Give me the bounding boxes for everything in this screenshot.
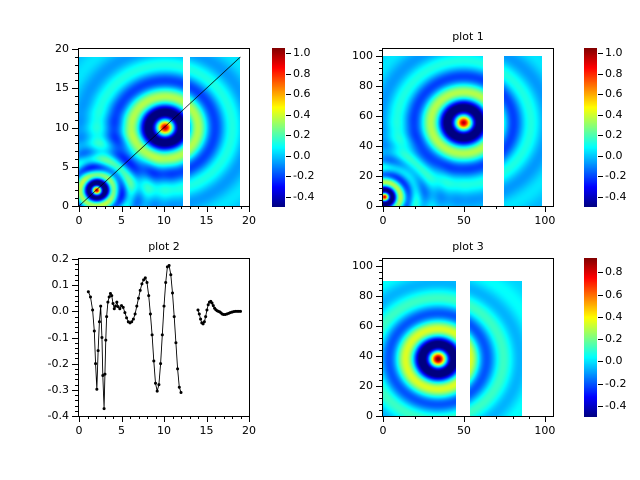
panel-bottom-right-ytick-minor — [379, 302, 382, 303]
panel-bottom-right-ytick-major — [376, 416, 382, 417]
panel-bottom-right-patch-right — [470, 281, 522, 416]
panel-bottom-right-ytick-minor — [379, 290, 382, 291]
panel-bottom-right-ytick-minor — [379, 344, 382, 345]
panel-bottom-right-colorbar-tick — [598, 339, 603, 340]
panel-bottom-right-ytick-minor — [379, 374, 382, 375]
panel-bottom-right-yticklabel: 80 — [323, 289, 373, 302]
panel-bottom-right-colorbar-tick — [598, 384, 603, 385]
panel-bottom-right-colorbar-ticklabel: 0.8 — [605, 265, 623, 278]
panel-bottom-right-xtick-minor — [432, 416, 433, 419]
panel-bottom-right-xticklabel: 50 — [439, 424, 489, 437]
panel-bottom-right-colorbar-ticklabel: -0.4 — [605, 399, 626, 412]
panel-bottom-right-ytick-major — [376, 386, 382, 387]
panel-bottom-right-xticklabel: 100 — [520, 424, 570, 437]
panel-bottom-right-xtick-major — [545, 416, 546, 422]
panel-bottom-right-yticklabel: 60 — [323, 319, 373, 332]
panel-bottom-right-colorbar-ticklabel: -0.2 — [605, 377, 626, 390]
panel-bottom-right-yticklabel: 0 — [323, 409, 373, 422]
panel-bottom-right-colorbar-tick — [598, 361, 603, 362]
panel-bottom-right-patch-right-image — [470, 281, 522, 416]
panel-bottom-right-colorbar-ticklabel: 0.4 — [605, 310, 623, 323]
panel-bottom-right-ytick-minor — [379, 314, 382, 315]
panel-bottom-right-xtick-major — [383, 416, 384, 422]
panel-bottom-right-ytick-minor — [379, 404, 382, 405]
panel-bottom-right-colorbar-ticklabel: 0.6 — [605, 288, 623, 301]
figure-canvas: 05101520051015201.00.80.60.40.20.0-0.2-0… — [0, 0, 640, 480]
panel-bottom-right-ytick-minor — [379, 398, 382, 399]
panel-bottom-right-axes — [382, 258, 554, 417]
panel-bottom-right-ytick-minor — [379, 284, 382, 285]
panel-bottom-right-title: plot 3 — [362, 240, 574, 253]
panel-bottom-right-xtick-major — [464, 416, 465, 422]
panel-bottom-right-xtick-minor — [415, 416, 416, 419]
panel-bottom-right-ytick-minor — [379, 368, 382, 369]
panel-bottom-right-xtick-minor — [529, 416, 530, 419]
panel-bottom-right-patch-main-image — [383, 281, 456, 416]
panel-bottom-right-ytick-minor — [379, 332, 382, 333]
panel-bottom-right-xtick-minor — [399, 416, 400, 419]
panel-bottom-right-xtick-minor — [496, 416, 497, 419]
panel-bottom-right-ytick-minor — [379, 410, 382, 411]
panel-bottom-right-colorbar-ticklabel: 0.2 — [605, 332, 623, 345]
panel-bottom-right-ytick-minor — [379, 278, 382, 279]
panel-bottom-right-ytick-major — [376, 326, 382, 327]
panel-bottom-right-xtick-minor — [480, 416, 481, 419]
panel-bottom-right-colorbar-tick — [598, 317, 603, 318]
panel-bottom-right-ytick-major — [376, 296, 382, 297]
panel-bottom-right-ytick-minor — [379, 380, 382, 381]
panel-bottom-right-ytick-minor — [379, 308, 382, 309]
panel-bottom-right-colorbar-tick — [598, 295, 603, 296]
panel-bottom-right-ytick-minor — [379, 350, 382, 351]
panel-bottom-right-ytick-minor — [379, 362, 382, 363]
panel-bottom-right-colorbar-gradient — [584, 258, 597, 417]
panel-bottom-right-yticklabel: 40 — [323, 349, 373, 362]
panel-bottom-right-ytick-major — [376, 356, 382, 357]
panel-bottom-right-xtick-minor — [448, 416, 449, 419]
panel-bottom-right-ytick-major — [376, 266, 382, 267]
panel-bottom-right-ytick-minor — [379, 272, 382, 273]
panel-bottom-right-ytick-minor — [379, 338, 382, 339]
panel-bottom-right-yticklabel: 20 — [323, 379, 373, 392]
panel-bottom-right-xtick-minor — [513, 416, 514, 419]
panel-bottom-right-ytick-minor — [379, 392, 382, 393]
panel-bottom-right-ytick-minor — [379, 320, 382, 321]
panel-bottom-right-patch-main — [383, 281, 456, 416]
panel-bottom-right-colorbar-tick — [598, 272, 603, 273]
panel-bottom-right-colorbar-ticklabel: 0.0 — [605, 354, 623, 367]
panel-bottom-right-ytick-minor — [379, 260, 382, 261]
panel-bottom-right-yticklabel: 100 — [323, 259, 373, 272]
panel-bottom-right-colorbar — [584, 258, 597, 417]
panel-bottom-right-colorbar-tick — [598, 406, 603, 407]
panel-bottom-right-xticklabel: 0 — [358, 424, 408, 437]
panel-bottom-right: plot 30501000204060801000.80.60.40.20.0-… — [0, 0, 640, 480]
